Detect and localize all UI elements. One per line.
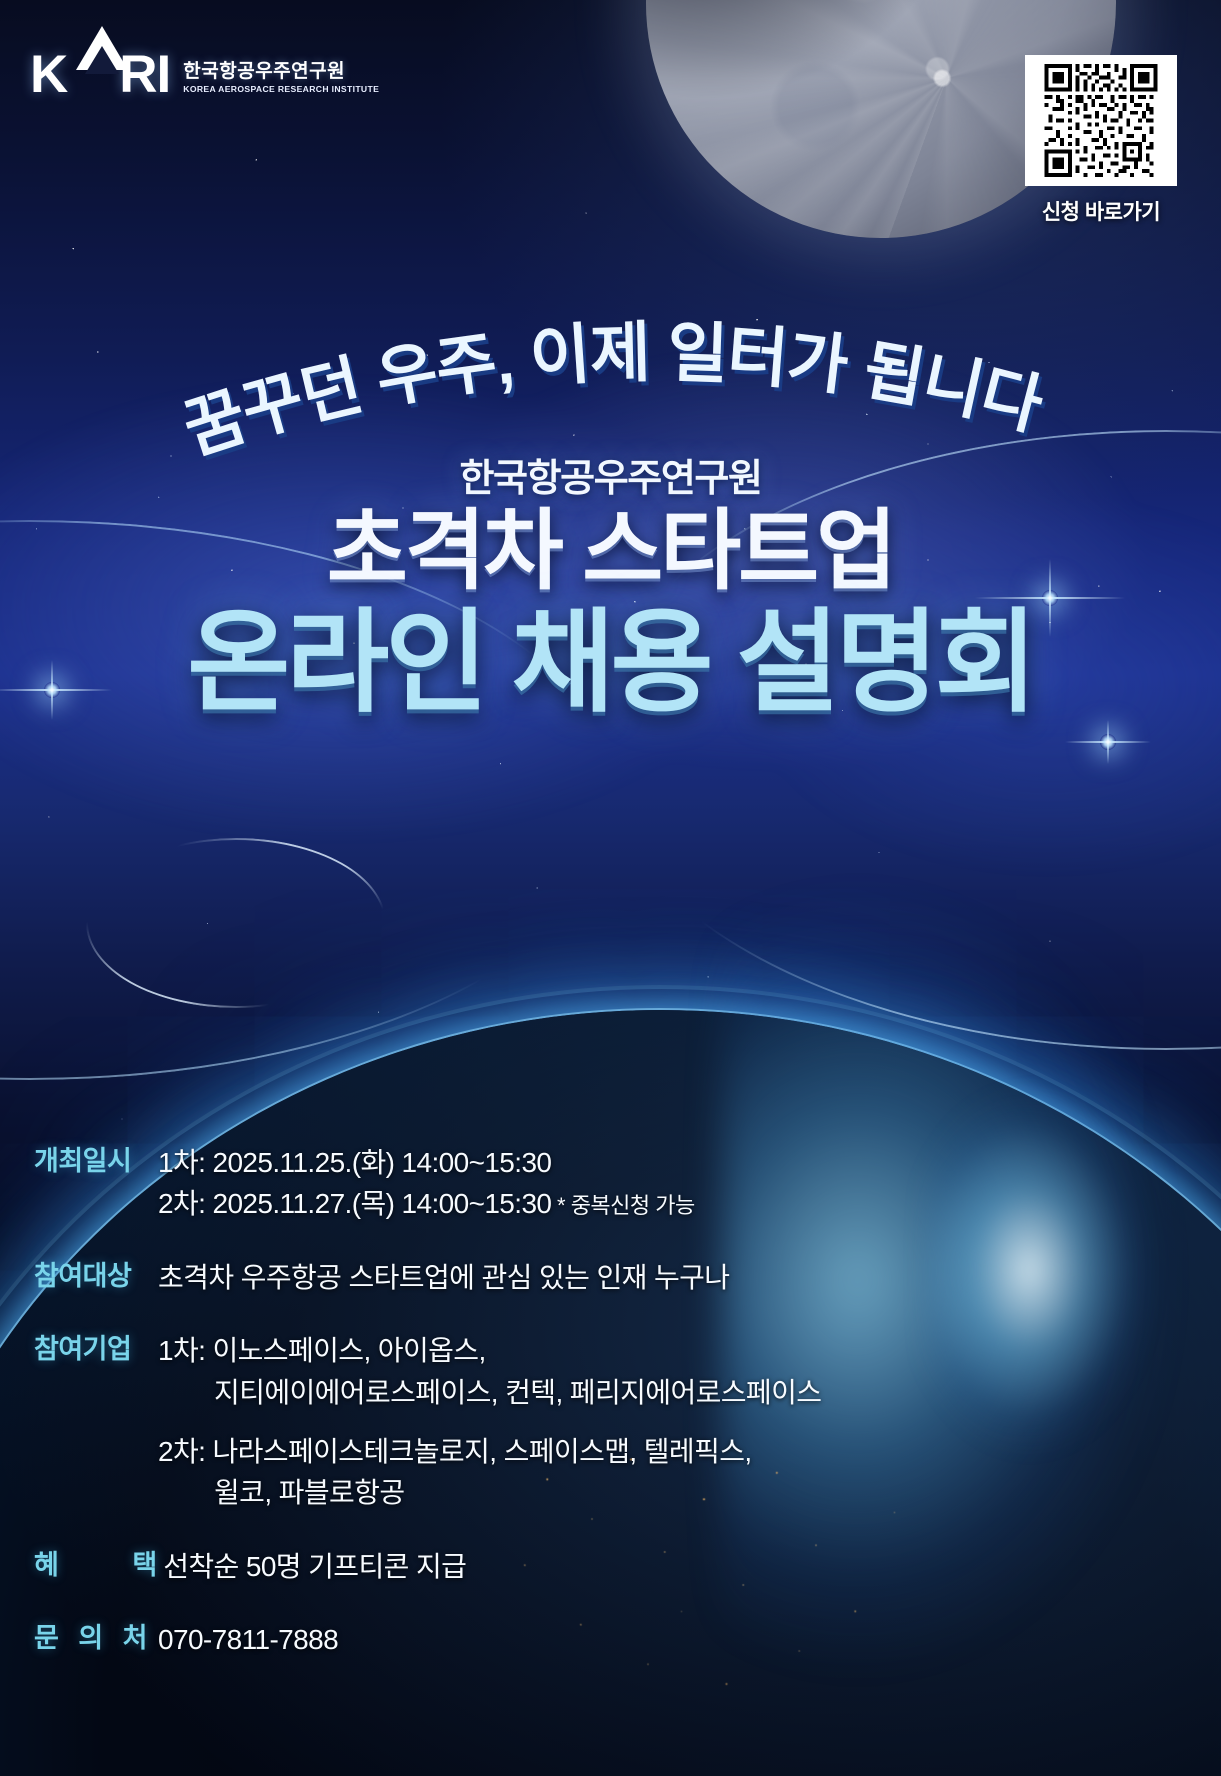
info-value: 1차: 이노스페이스, 아이옵스,지티에이에어로스페이스, 컨텍, 페리지에어로…	[158, 1330, 1094, 1514]
info-line-note: * 중복신청 가능	[551, 1193, 694, 1218]
kari-peak-icon	[76, 26, 128, 70]
kari-name-en: KOREA AEROSPACE RESEARCH INSTITUTE	[183, 84, 379, 95]
info-line: 지티에이에어로스페이스, 컨텍, 페리지에어로스페이스	[158, 1372, 1094, 1413]
info-line: 초격차 우주항공 스타트업에 관심 있는 인재 누구나	[158, 1257, 1094, 1298]
info-line: 1차: 2025.11.25.(화) 14:00~15:30	[158, 1142, 1094, 1183]
poster-root: KRI 한국항공우주연구원 KOREA AEROSPACE RESEARCH I…	[0, 0, 1221, 1776]
organization-line: 한국항공우주연구원	[0, 447, 1221, 502]
info-row: 문 의 처070-7811-7888	[34, 1619, 1094, 1660]
info-line-text: 초격차 우주항공 스타트업에 관심 있는 인재 누구나	[158, 1262, 729, 1293]
info-block: 개최일시1차: 2025.11.25.(화) 14:00~15:302차: 20…	[34, 1142, 1094, 1661]
info-value: 1차: 2025.11.25.(화) 14:00~15:302차: 2025.1…	[158, 1142, 1094, 1225]
info-line: 1차: 이노스페이스, 아이옵스,	[158, 1330, 1094, 1371]
title-line-1: 초격차 스타트업	[0, 500, 1221, 601]
info-row: 참여기업1차: 이노스페이스, 아이옵스,지티에이에어로스페이스, 컨텍, 페리…	[34, 1330, 1094, 1514]
kari-logo-wordmark: 한국항공우주연구원 KOREA AEROSPACE RESEARCH INSTI…	[183, 62, 379, 99]
info-value: 070-7811-7888	[158, 1619, 1094, 1660]
info-row: 혜 택선착순 50명 기프티콘 지급	[34, 1546, 1094, 1587]
info-label: 참여기업	[34, 1330, 158, 1370]
info-value: 선착순 50명 기프티콘 지급	[163, 1546, 1094, 1587]
info-line-text: 지티에이에어로스페이스, 컨텍, 페리지에어로스페이스	[214, 1377, 821, 1408]
info-line: 2차: 나라스페이스테크놀로지, 스페이스맵, 텔레픽스,	[158, 1431, 1094, 1472]
info-line: 선착순 50명 기프티콘 지급	[163, 1546, 1094, 1587]
info-line-text: 윌코, 파블로항공	[214, 1477, 404, 1508]
info-line: 윌코, 파블로항공	[158, 1472, 1094, 1513]
info-line-text: 2차: 나라스페이스테크놀로지, 스페이스맵, 텔레픽스,	[158, 1436, 752, 1467]
info-line: 070-7811-7888	[158, 1619, 1094, 1660]
info-line	[158, 1413, 1094, 1431]
info-label: 문 의 처	[34, 1619, 158, 1659]
info-line-text: 2차: 2025.11.27.(목) 14:00~15:30	[158, 1188, 551, 1219]
info-line-text: 선착순 50명 기프티콘 지급	[163, 1551, 466, 1582]
qr-caption: 신청 바로가기	[1042, 196, 1160, 226]
kari-logo-mark: KRI	[30, 52, 170, 99]
info-line: 2차: 2025.11.27.(목) 14:00~15:30 * 중복신청 가능	[158, 1183, 1094, 1224]
kari-name-ko: 한국항공우주연구원	[183, 62, 379, 82]
info-label: 혜 택	[34, 1546, 163, 1586]
kari-logo-mark-prefix: K	[30, 45, 67, 104]
info-label: 참여대상	[34, 1257, 158, 1297]
qr-block[interactable]: 신청 바로가기	[1025, 55, 1177, 226]
info-label: 개최일시	[34, 1142, 158, 1182]
info-value: 초격차 우주항공 스타트업에 관심 있는 인재 누구나	[158, 1257, 1094, 1298]
kari-logo: KRI 한국항공우주연구원 KOREA AEROSPACE RESEARCH I…	[30, 52, 379, 99]
info-row: 참여대상초격차 우주항공 스타트업에 관심 있는 인재 누구나	[34, 1257, 1094, 1298]
title-line-2: 온라인 채용 설명회	[0, 600, 1221, 725]
info-row: 개최일시1차: 2025.11.25.(화) 14:00~15:302차: 20…	[34, 1142, 1094, 1225]
info-line-text: 1차: 2025.11.25.(화) 14:00~15:30	[158, 1147, 551, 1178]
qr-code-icon[interactable]	[1025, 55, 1177, 186]
info-line-text: 070-7811-7888	[158, 1624, 338, 1655]
info-line-text: 1차: 이노스페이스, 아이옵스,	[158, 1335, 486, 1366]
